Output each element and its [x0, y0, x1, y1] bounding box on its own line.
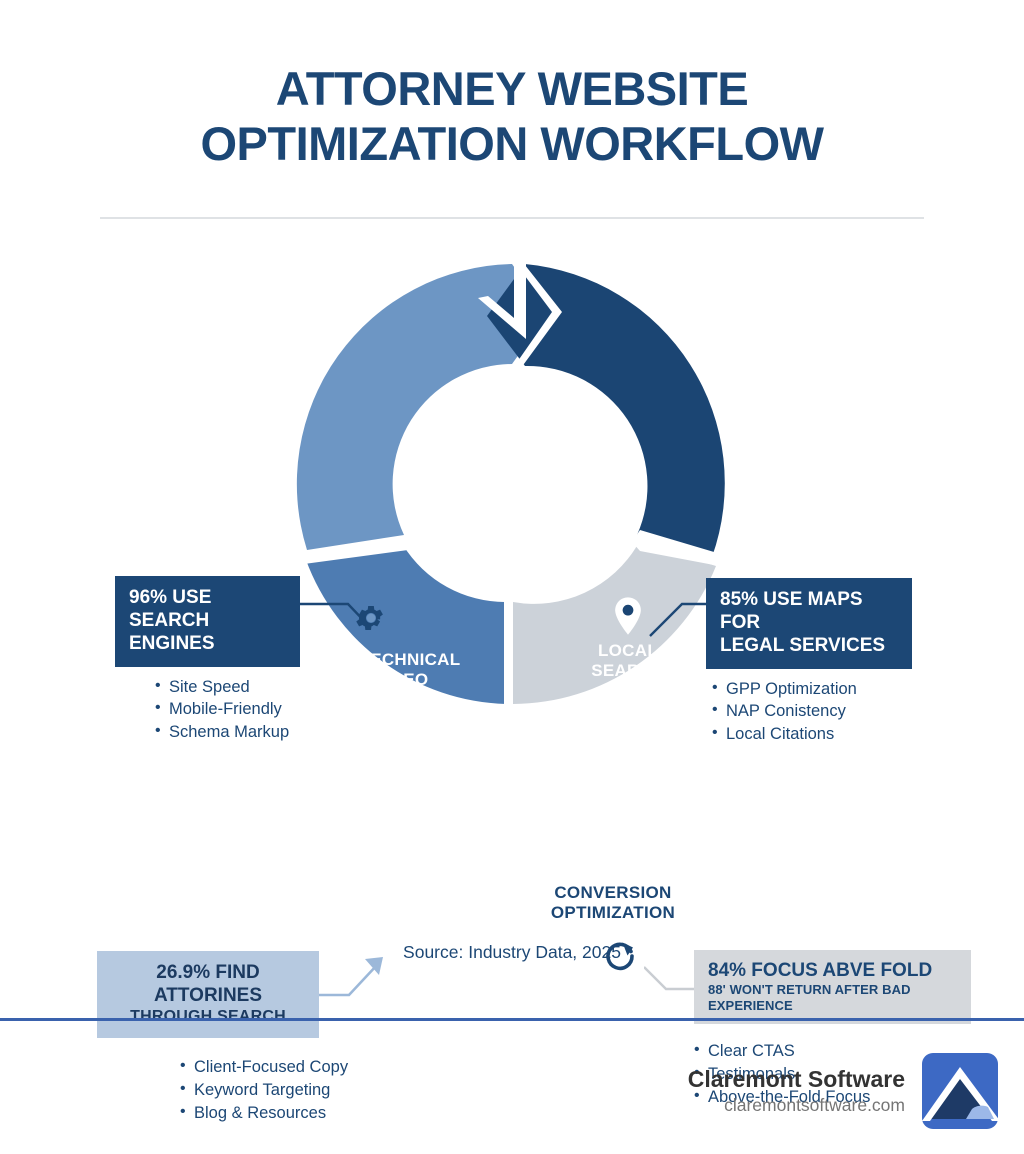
list-item: Site Speed: [155, 676, 300, 699]
open-book-icon: [336, 826, 388, 873]
callout-find-attorneys: 26.9% FIND ATTORINES THROUGH SEARCH Clie…: [97, 951, 348, 1125]
connector-conversion-optimization: [644, 965, 700, 995]
callout-find-attorneys-bar: 26.9% FIND ATTORINES THROUGH SEARCH: [97, 951, 319, 1038]
page-title: ATTORNEY WEBSITE OPTIMIZATION WORKFLOW: [0, 62, 1024, 171]
callout-maps-bar: 85% USE MAPS FOR LEGAL SERVICES: [706, 578, 912, 669]
list-item: Mobile-Friendly: [155, 698, 300, 721]
workflow-diagram: TECHNICAL SEO LOCAL SEARCH CONTENT STRAT…: [0, 237, 1024, 877]
footer: Claremont Software claremontsoftware.com: [688, 1053, 998, 1129]
conversion-optimization-line-2: OPTIMIZATION: [522, 903, 704, 923]
list-item: GPP Optimization: [712, 678, 912, 701]
callout-find-attorneys-bullets: Client-Focused Copy Keyword Targeting Bl…: [180, 1056, 348, 1125]
gear-icon: [354, 601, 388, 640]
page-title-line-2: OPTIMIZATION WORKFLOW: [0, 117, 1024, 172]
callout-find-attorneys-stat: 26.9% FIND ATTORINES: [111, 961, 305, 1007]
footer-divider: [0, 1018, 1024, 1021]
list-item: Local Citations: [712, 723, 912, 746]
location-pin-icon: [614, 597, 642, 640]
callout-search-engines: 96% USE SEARCH ENGINES Site Speed Mobile…: [115, 576, 300, 744]
segment-label-content-strategy: CONTENT STRATEGY: [340, 882, 500, 923]
callout-search-engines-stat-2: SEARCH ENGINES: [129, 609, 286, 655]
callout-maps-bullets: GPP Optimization NAP Conistency Local Ci…: [712, 678, 912, 747]
source-note: Source: Industry Data, 2025: [0, 942, 1024, 963]
brand-name: Claremont Software: [688, 1065, 905, 1094]
wheel-inner-hole: [394, 366, 630, 602]
conversion-optimization-line-1: CONVERSION: [522, 883, 704, 903]
notch-bottom: [504, 599, 510, 708]
callout-maps: 85% USE MAPS FOR LEGAL SERVICES GPP Opti…: [706, 578, 912, 746]
claremont-software-logo: [922, 1053, 998, 1129]
header: ATTORNEY WEBSITE OPTIMIZATION WORKFLOW: [0, 0, 1024, 219]
list-item: Schema Markup: [155, 721, 300, 744]
list-item: Client-Focused Copy: [180, 1056, 348, 1079]
callout-maps-stat-2: LEGAL SERVICES: [720, 634, 898, 657]
callout-search-engines-bullets: Site Speed Mobile-Friendly Schema Markup: [155, 676, 300, 745]
callout-search-engines-bar: 96% USE SEARCH ENGINES: [115, 576, 300, 667]
page-title-line-1: ATTORNEY WEBSITE: [0, 62, 1024, 117]
brand-url[interactable]: claremontsoftware.com: [688, 1094, 905, 1118]
list-item: Keyword Targeting: [180, 1079, 348, 1102]
header-divider: [100, 217, 924, 219]
segment-label-conversion-optimization: CONVERSION OPTIMIZATION: [522, 883, 704, 924]
content-strategy-line-2: STRATEGY: [340, 902, 500, 922]
cycle-wheel: [282, 254, 742, 714]
content-strategy-line-1: CONTENT: [340, 882, 500, 902]
list-item: Blog & Resources: [180, 1102, 348, 1125]
callout-above-fold-substat: 88' WON'T RETURN AFTER BAD EXPERIENCE: [708, 982, 959, 1014]
list-item: NAP Conistency: [712, 700, 912, 723]
callout-maps-stat: 85% USE MAPS FOR: [720, 588, 898, 634]
footer-text: Claremont Software claremontsoftware.com: [688, 1065, 905, 1117]
callout-search-engines-stat: 96% USE: [129, 586, 286, 609]
